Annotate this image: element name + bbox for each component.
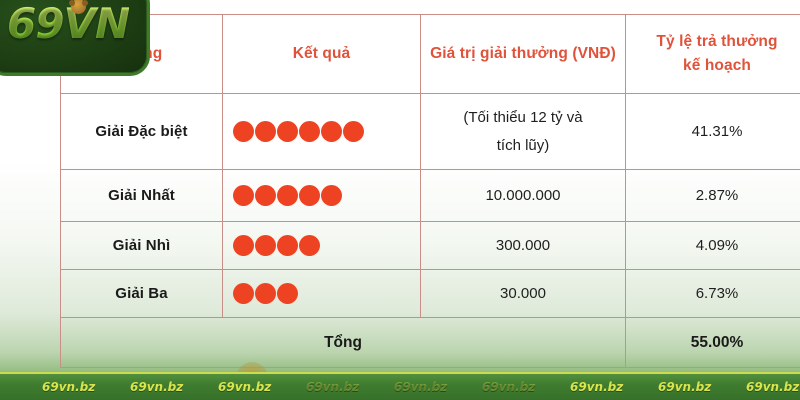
- result-dot: [277, 235, 298, 256]
- cell-prize-value: (Tối thiểu 12 tỷ và tích lũy): [421, 94, 626, 170]
- result-dot: [299, 235, 320, 256]
- result-dot: [277, 283, 298, 304]
- column-header-value: Giá trị giải thưởng (VNĐ): [421, 15, 626, 94]
- result-dot: [255, 121, 276, 142]
- cell-result-dots: [223, 170, 421, 222]
- cell-payout-rate: 2.87%: [626, 170, 800, 222]
- watermark: 69vn.bz: [658, 380, 746, 394]
- watermark: 69vn.bz: [394, 380, 482, 394]
- result-dot: [255, 235, 276, 256]
- watermark: 69vn.bz: [482, 380, 570, 394]
- cell-prize-value: 10.000.000: [421, 170, 626, 222]
- result-dot: [343, 121, 364, 142]
- column-header-result: Kết quả: [223, 15, 421, 94]
- result-dot: [233, 121, 254, 142]
- result-dot: [277, 121, 298, 142]
- watermark: 69vn.bz: [130, 380, 218, 394]
- cell-payout-rate: 41.31%: [626, 94, 800, 170]
- table-header: ưởng Kết quả Giá trị giải thưởng (VNĐ) T…: [61, 15, 800, 94]
- cell-prize-value-line2: tích lũy): [497, 137, 550, 154]
- table-row: Giải Nhất 10.000.000 2.87%: [61, 170, 800, 222]
- table-row: Giải Nhì 300.000 4.09%: [61, 222, 800, 270]
- result-dot: [233, 235, 254, 256]
- result-dot: [299, 185, 320, 206]
- cell-prize-name: Giải Ba: [61, 270, 223, 318]
- result-dot: [255, 185, 276, 206]
- cell-prize-value: 30.000: [421, 270, 626, 318]
- table-header-row: ưởng Kết quả Giá trị giải thưởng (VNĐ) T…: [61, 15, 800, 94]
- cell-result-dots: [223, 94, 421, 170]
- cell-prize-value: 300.000: [421, 222, 626, 270]
- result-dot: [321, 185, 342, 206]
- result-dot: [255, 283, 276, 304]
- watermark: 69vn.bz: [746, 380, 800, 394]
- column-header-rate-line1: Tỷ lệ trả thưởng: [656, 33, 777, 50]
- watermark: 69vn.bz: [42, 380, 130, 394]
- cell-prize-name: Giải Nhì: [61, 222, 223, 270]
- cell-prize-name: Giải Nhất: [61, 170, 223, 222]
- cell-prize-name: Giải Đặc biệt: [61, 94, 223, 170]
- watermark: 69vn.bz: [306, 380, 394, 394]
- result-dot: [299, 121, 320, 142]
- cell-payout-rate: 6.73%: [626, 270, 800, 318]
- result-dot: [321, 121, 342, 142]
- table-body: Giải Đặc biệt (Tối thiểu 12 tỷ và tích l…: [61, 94, 800, 368]
- cell-payout-rate: 4.09%: [626, 222, 800, 270]
- cell-result-dots: [223, 270, 421, 318]
- result-dot: [277, 185, 298, 206]
- prize-payout-table: ưởng Kết quả Giá trị giải thưởng (VNĐ) T…: [60, 14, 800, 368]
- cell-prize-value-line1: (Tối thiểu 12 tỷ và: [463, 109, 582, 126]
- result-dot: [233, 283, 254, 304]
- watermark-banner: 69vn.bz 69vn.bz 69vn.bz 69vn.bz 69vn.bz …: [0, 372, 800, 400]
- result-dot: [233, 185, 254, 206]
- cell-result-dots: [223, 222, 421, 270]
- watermark: 69vn.bz: [218, 380, 306, 394]
- brand-logo[interactable]: 69VN: [0, 0, 150, 76]
- watermark-list: 69vn.bz 69vn.bz 69vn.bz 69vn.bz 69vn.bz …: [0, 374, 800, 400]
- table-row: Giải Đặc biệt (Tối thiểu 12 tỷ và tích l…: [61, 94, 800, 170]
- column-header-rate: Tỷ lệ trả thưởng kế hoạch: [626, 15, 800, 94]
- brand-logo-text: 69VN: [7, 3, 129, 45]
- watermark: 69vn.bz: [570, 380, 658, 394]
- column-header-rate-line2: kế hoạch: [683, 57, 751, 74]
- page-root: ưởng Kết quả Giá trị giải thưởng (VNĐ) T…: [0, 0, 800, 400]
- table-row: Giải Ba 30.000 6.73%: [61, 270, 800, 318]
